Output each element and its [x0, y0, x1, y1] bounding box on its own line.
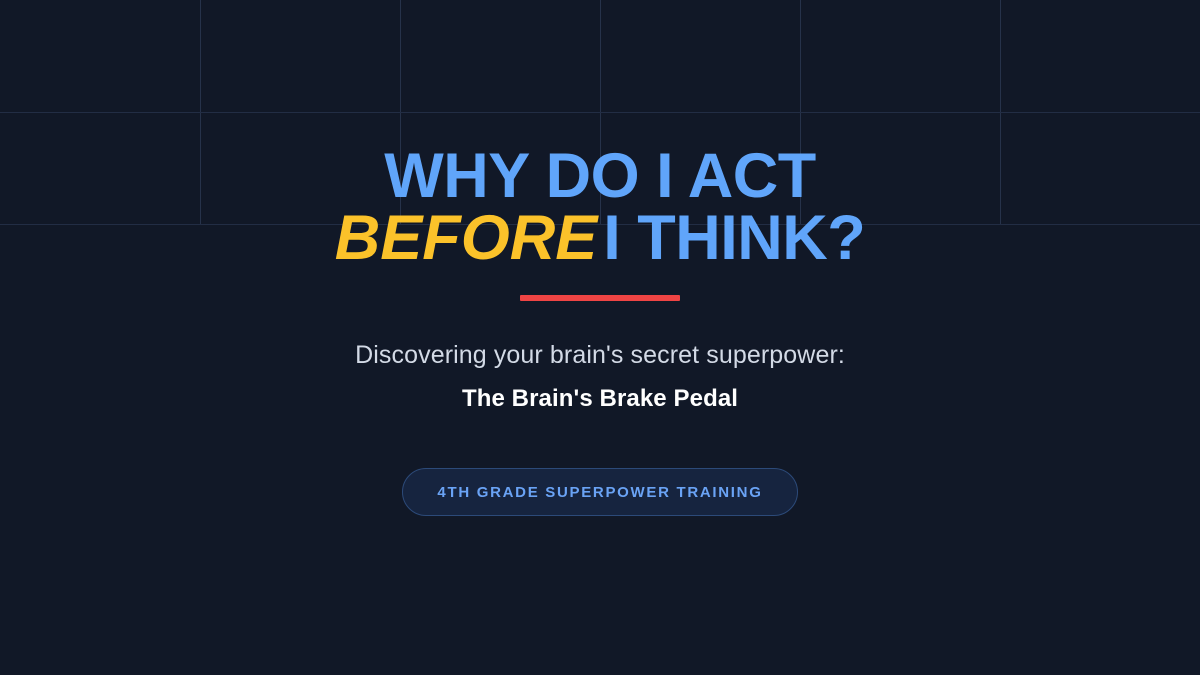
title-accent-word: BEFORE [335, 203, 598, 273]
subtitle-highlight-text: The Brain's Brake Pedal [355, 385, 845, 413]
title-line-two-rest: I THINK? [603, 203, 865, 273]
subtitle: Discovering your brain's secret superpow… [355, 341, 845, 413]
slide-content: WHY DO I ACT BEFOREI THINK? Discovering … [0, 0, 1200, 675]
title-slide: WHY DO I ACT BEFOREI THINK? Discovering … [0, 0, 1200, 675]
course-badge: 4TH GRADE SUPERPOWER TRAINING [402, 468, 798, 516]
title-line-one: WHY DO I ACT [335, 146, 866, 208]
course-badge-label: 4TH GRADE SUPERPOWER TRAINING [437, 484, 762, 501]
subtitle-lead-text: Discovering your brain's secret superpow… [355, 341, 845, 370]
title-line-two: BEFOREI THINK? [335, 208, 866, 270]
page-title: WHY DO I ACT BEFOREI THINK? [335, 146, 866, 269]
title-underline-rule [520, 295, 680, 301]
